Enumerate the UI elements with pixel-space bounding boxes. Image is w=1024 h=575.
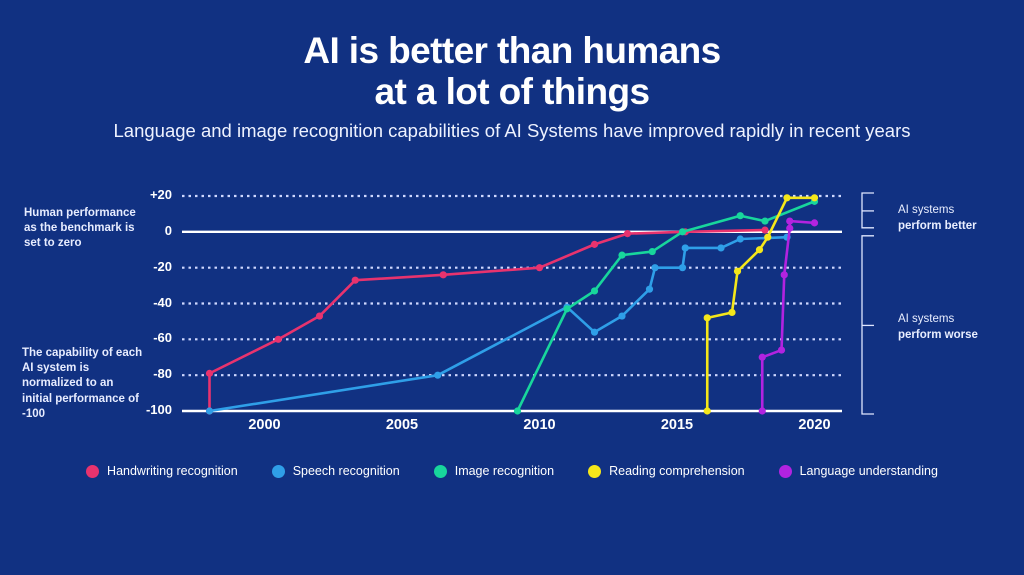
data-point — [563, 305, 570, 312]
legend-dot-icon — [779, 465, 792, 478]
data-point — [206, 407, 213, 414]
perform-worse-line-2: perform worse — [898, 328, 1018, 344]
data-point — [514, 407, 521, 414]
data-point — [679, 264, 686, 271]
data-point — [728, 309, 735, 316]
legend-item[interactable]: Image recognition — [434, 464, 554, 478]
data-point — [704, 314, 711, 321]
y-axis-tick-label: 0 — [126, 223, 172, 238]
legend-dot-icon — [272, 465, 285, 478]
x-axis-tick-label: 2015 — [647, 417, 707, 433]
data-point — [764, 234, 771, 241]
data-point — [759, 407, 766, 414]
data-point — [761, 226, 768, 233]
title-line-2: at a lot of things — [0, 71, 1024, 112]
chart-gridlines — [182, 196, 842, 411]
perform-worse-line-1: AI systems — [898, 313, 954, 325]
series-line — [210, 230, 766, 411]
data-point — [536, 264, 543, 271]
line-chart: +200-20-40-60-80-100 2000200520102015202… — [182, 196, 842, 411]
data-point — [206, 370, 213, 377]
x-axis-tick-label: 2020 — [785, 417, 845, 433]
y-axis-tick-label: -80 — [126, 366, 172, 381]
data-point — [737, 235, 744, 242]
data-point — [778, 346, 785, 353]
data-point — [646, 286, 653, 293]
y-axis-tick-label: -20 — [126, 259, 172, 274]
x-axis-tick-label: 2005 — [372, 417, 432, 433]
data-point — [781, 271, 788, 278]
data-point — [275, 336, 282, 343]
data-point — [618, 312, 625, 319]
data-point — [682, 244, 689, 251]
perform-better-line-2: perform better — [898, 219, 1018, 235]
data-point — [759, 354, 766, 361]
data-point — [316, 312, 323, 319]
data-point — [624, 230, 631, 237]
series-speech-recognition — [206, 234, 791, 415]
x-axis-tick-label: 2000 — [235, 417, 295, 433]
legend-item[interactable]: Reading comprehension — [588, 464, 745, 478]
y-axis-tick-label: -100 — [126, 402, 172, 417]
legend-item[interactable]: Language understanding — [779, 464, 938, 478]
data-point — [737, 212, 744, 219]
data-point — [786, 217, 793, 224]
data-point — [440, 271, 447, 278]
series-line — [762, 221, 814, 411]
chart-series-layer — [206, 194, 818, 414]
chart-svg — [182, 196, 842, 411]
legend-dot-icon — [434, 465, 447, 478]
chart-brackets — [862, 193, 874, 414]
y-axis-tick-label: -60 — [126, 330, 172, 345]
data-point — [352, 277, 359, 284]
data-point — [651, 264, 658, 271]
page-title: AI is better than humans at a lot of thi… — [0, 30, 1024, 113]
chart-legend: Handwriting recognitionSpeech recognitio… — [0, 464, 1024, 478]
data-point — [717, 244, 724, 251]
page-subtitle: Language and image recognition capabilit… — [0, 120, 1024, 142]
data-point — [756, 246, 763, 253]
y-axis-tick-label: -40 — [126, 295, 172, 310]
title-line-1: AI is better than humans — [303, 30, 720, 71]
data-point — [783, 194, 790, 201]
data-point — [734, 268, 741, 275]
x-axis-tick-label: 2010 — [510, 417, 570, 433]
data-point — [761, 217, 768, 224]
legend-item[interactable]: Handwriting recognition — [86, 464, 238, 478]
bracket-label-perform-better: AI systems perform better — [898, 203, 1018, 234]
perform-better-line-1: AI systems — [898, 204, 954, 216]
infographic-canvas: AI is better than humans at a lot of thi… — [0, 0, 1024, 575]
series-language-understanding — [759, 217, 818, 414]
legend-dot-icon — [86, 465, 99, 478]
data-point — [786, 225, 793, 232]
legend-item[interactable]: Speech recognition — [272, 464, 400, 478]
legend-label: Handwriting recognition — [107, 464, 238, 478]
data-point — [811, 219, 818, 226]
data-point — [591, 287, 598, 294]
data-point — [649, 248, 656, 255]
data-point — [704, 407, 711, 414]
bracket-label-perform-worse: AI systems perform worse — [898, 312, 1018, 343]
data-point — [434, 372, 441, 379]
data-point — [811, 194, 818, 201]
data-point — [591, 241, 598, 248]
series-line — [210, 237, 788, 411]
data-point — [679, 228, 686, 235]
y-axis-tick-label: +20 — [126, 187, 172, 202]
legend-label: Reading comprehension — [609, 464, 745, 478]
data-point — [618, 252, 625, 259]
legend-dot-icon — [588, 465, 601, 478]
legend-label: Image recognition — [455, 464, 554, 478]
legend-label: Speech recognition — [293, 464, 400, 478]
legend-label: Language understanding — [800, 464, 938, 478]
data-point — [591, 329, 598, 336]
